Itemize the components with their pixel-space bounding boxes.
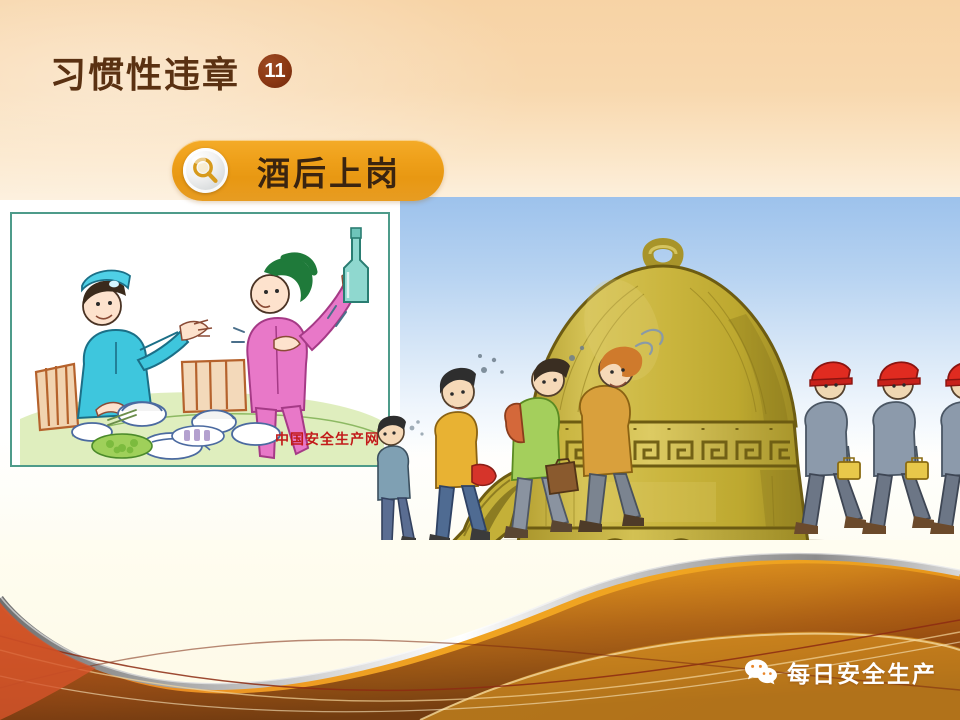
footer-brand: 每日安全生产: [744, 655, 937, 689]
bottom-decorative-wave: [0, 540, 960, 720]
cartoon-illustration: [12, 214, 388, 465]
background-top-band: [0, 0, 960, 200]
bell-and-workers-illustration: [360, 230, 960, 580]
cartoon-panel: 中国安全生产网: [10, 212, 390, 467]
wechat-icon: [744, 658, 778, 686]
right-workers: [794, 362, 960, 534]
slide-canvas: 习惯性违章 11 酒后上岗: [0, 0, 960, 720]
subtitle-label: 酒后上岗: [228, 147, 444, 195]
magnifier-icon: [183, 148, 228, 193]
subtitle-pill[interactable]: 酒后上岗: [172, 140, 444, 201]
footer-brand-label: 每日安全生产: [787, 655, 937, 689]
title-number-badge: 11: [258, 54, 292, 88]
page-title: 习惯性违章: [50, 46, 240, 98]
